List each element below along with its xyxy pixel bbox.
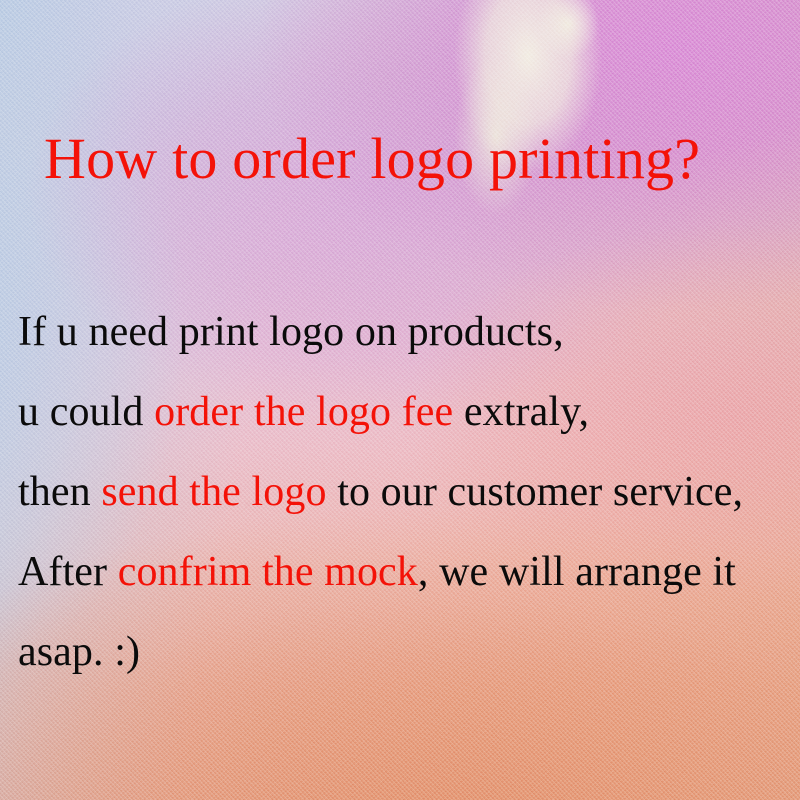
text-content: How to order logo printing? If u need pr… [0, 0, 800, 800]
body-line-3: then send the logo to our customer servi… [18, 452, 800, 532]
promo-image: How to order logo printing? If u need pr… [0, 0, 800, 800]
body-line-3-segment-3: to our customer service, [327, 469, 744, 515]
body-paragraph: If u need print logo on products, u coul… [18, 292, 800, 692]
body-line-5-segment-1: asap. :) [18, 629, 140, 675]
body-line-4-segment-1: After [18, 549, 118, 595]
body-line-3-highlight: send the logo [101, 469, 326, 515]
headline-title: How to order logo printing? [44, 130, 700, 188]
body-line-1-segment-1: If u need print logo on products, [18, 309, 564, 355]
body-line-5: asap. :) [18, 612, 800, 692]
body-line-2-segment-1: u could [18, 389, 154, 435]
body-line-3-segment-1: then [18, 469, 101, 515]
body-line-2: u could order the logo fee extraly, [18, 372, 800, 452]
body-line-4-highlight: confrim the mock [118, 549, 418, 595]
body-line-4: After confrim the mock, we will arrange … [18, 532, 800, 612]
body-line-4-segment-3: , we will arrange it [418, 549, 736, 595]
body-line-1: If u need print logo on products, [18, 292, 800, 372]
body-line-2-segment-3: extraly, [453, 389, 589, 435]
body-line-2-highlight: order the logo fee [154, 389, 453, 435]
